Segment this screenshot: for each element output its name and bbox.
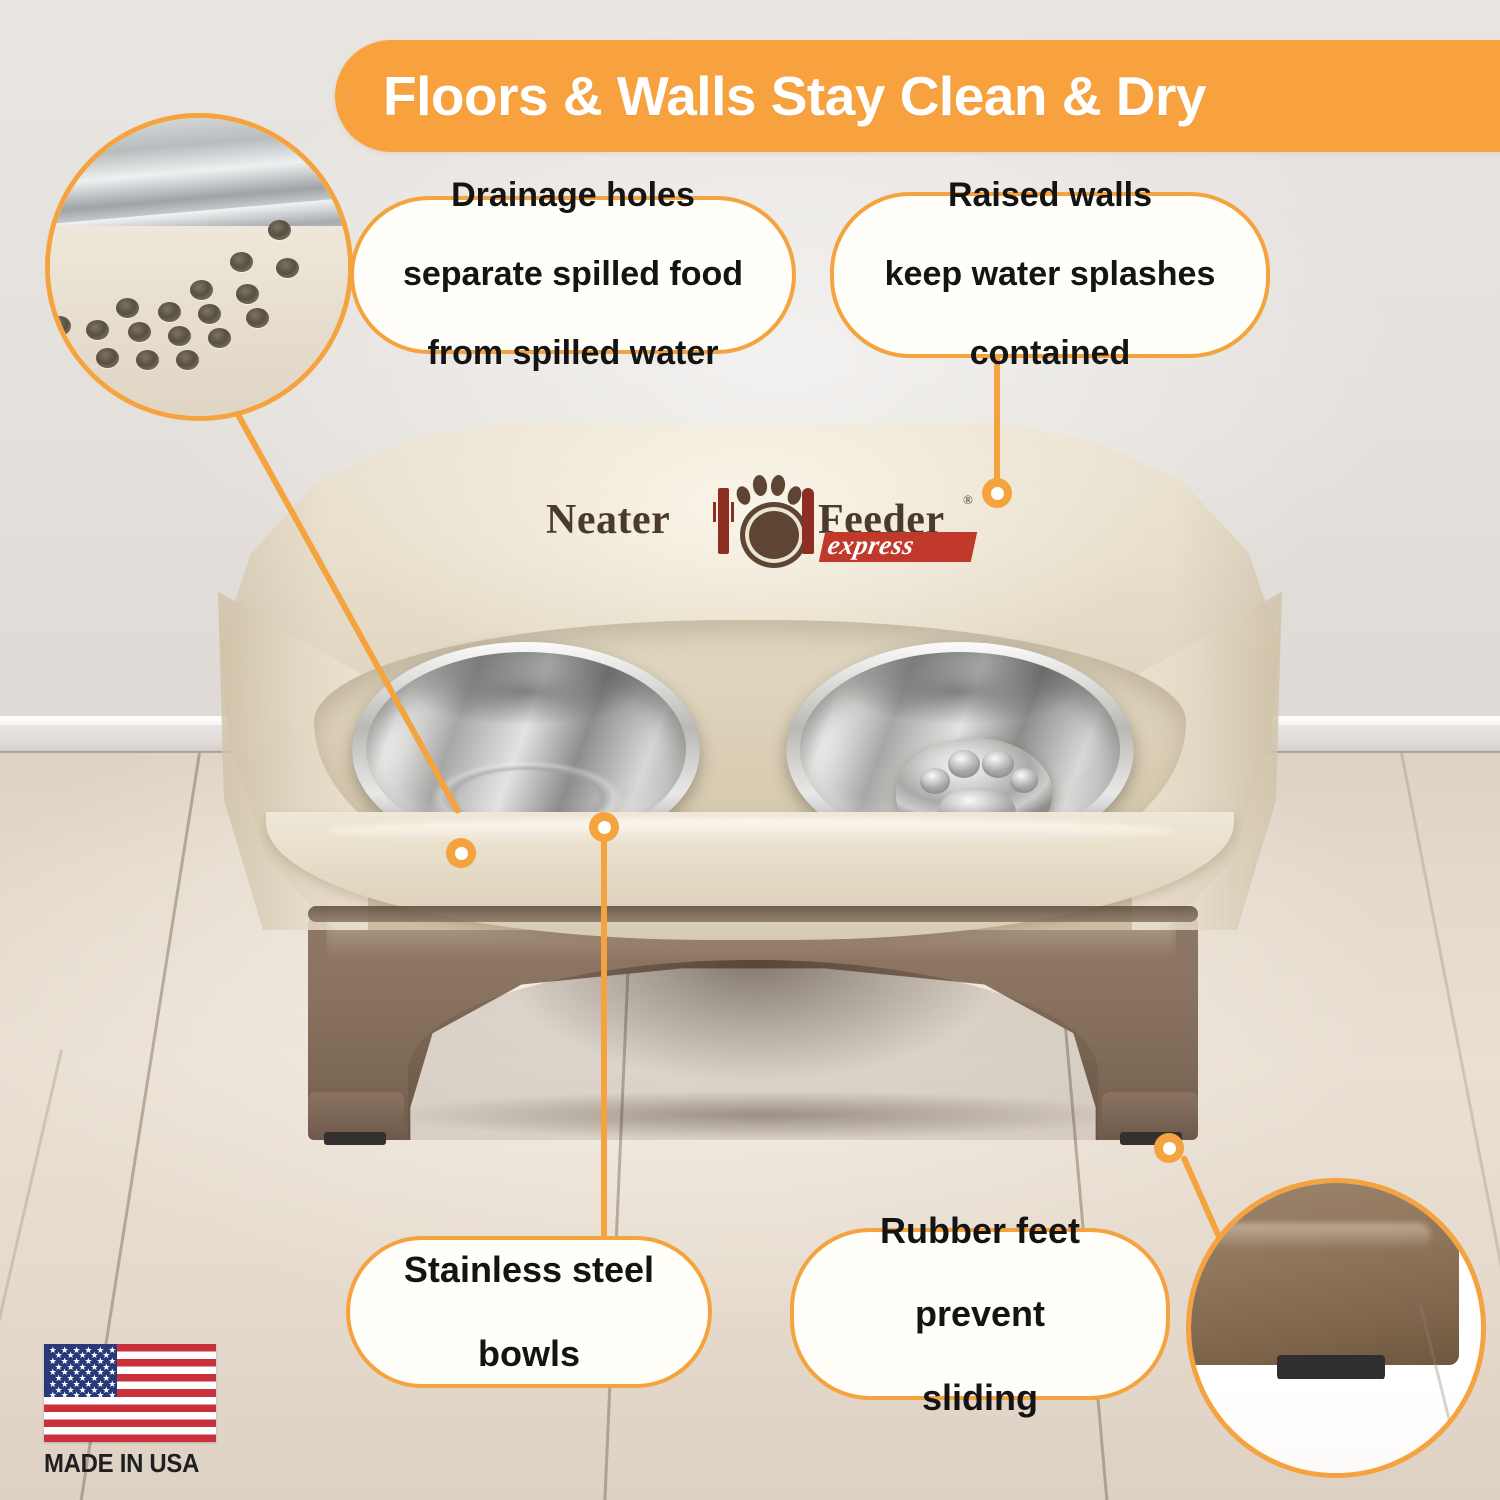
paw-toe <box>752 474 768 497</box>
drainage-hole <box>176 350 199 370</box>
flag-star: ★ <box>73 1391 81 1400</box>
paw-toe-pad <box>982 750 1014 778</box>
callout-stainless-steel-bowls[interactable]: Stainless steel bowls <box>346 1236 712 1388</box>
fork-icon <box>718 488 729 554</box>
paw-toe <box>770 474 786 497</box>
drainage-hole <box>136 350 159 370</box>
paw-toe <box>785 484 803 506</box>
rubber-foot-closeup <box>1277 1355 1385 1381</box>
flag-star: ★ <box>49 1391 57 1400</box>
callout-line: sliding <box>880 1377 1080 1419</box>
callout-line: Raised walls <box>885 176 1216 215</box>
callout-rubber-feet[interactable]: Rubber feet prevent sliding <box>790 1228 1170 1400</box>
paw-toe <box>734 484 752 506</box>
callout-line: from spilled water <box>403 334 743 373</box>
page-title: Floors & Walls Stay Clean & Dry <box>335 64 1206 128</box>
drainage-hole <box>158 302 181 322</box>
callout-drainage-text: Drainage holes separate spilled food fro… <box>403 176 743 373</box>
infographic-canvas: Neater Feeder ® express Floors & Walls S… <box>0 0 1500 1500</box>
flag-star: ★ <box>108 1391 116 1400</box>
drainage-hole <box>52 344 75 364</box>
logo-express-text: express <box>825 530 980 561</box>
callout-line: keep water splashes <box>885 255 1216 294</box>
drainage-hole <box>128 322 151 342</box>
flag-canton: ★★★★★★★★★★★★★★★★★★★★★★★★★★★★★★★★★★★★★★★★… <box>44 1344 117 1397</box>
pointer-dot-raised-walls <box>982 478 1012 508</box>
callout-line: Rubber feet <box>880 1210 1080 1252</box>
made-in-usa-label: MADE IN USA <box>44 1448 202 1479</box>
paw-toe-pad <box>920 768 950 794</box>
callout-line: bowls <box>404 1333 654 1375</box>
drainage-hole <box>198 304 221 324</box>
callout-raised-walls[interactable]: Raised walls keep water splashes contain… <box>830 192 1270 358</box>
pointer-dot-stainless-bowls <box>589 812 619 842</box>
callout-line: prevent <box>880 1293 1080 1335</box>
rubber-foot-left <box>324 1132 386 1145</box>
usa-flag-icon: ★★★★★★★★★★★★★★★★★★★★★★★★★★★★★★★★★★★★★★★★… <box>44 1344 216 1442</box>
callout-line: Stainless steel <box>404 1249 654 1291</box>
callout-line: separate spilled food <box>403 255 743 294</box>
flag-star: ★ <box>96 1391 104 1400</box>
connector-raised-walls <box>994 356 1000 496</box>
paw-print-icon <box>736 474 802 560</box>
paw-toe-pad <box>1010 768 1038 793</box>
base-top-edge <box>308 906 1198 922</box>
knife-icon <box>802 488 814 554</box>
callout-line: contained <box>885 334 1216 373</box>
callout-bowls-text: Stainless steel bowls <box>404 1249 654 1374</box>
callout-rubber-text: Rubber feet prevent sliding <box>880 1210 1080 1419</box>
callout-line: Drainage holes <box>403 176 743 215</box>
drainage-plate-plastic <box>45 226 353 421</box>
registered-trademark-mark: ® <box>963 492 973 508</box>
drainage-hole <box>48 316 71 336</box>
pointer-dot-drainage <box>446 838 476 868</box>
drainage-hole <box>276 258 299 278</box>
base-leg-highlight <box>1186 1223 1431 1249</box>
made-in-usa-badge: ★★★★★★★★★★★★★★★★★★★★★★★★★★★★★★★★★★★★★★★★… <box>44 1344 216 1484</box>
drainage-hole <box>268 220 291 240</box>
rubber-foot-closeup-inset <box>1186 1178 1486 1478</box>
drainage-hole <box>236 284 259 304</box>
drainage-hole <box>168 326 191 346</box>
paw-toe-pad <box>948 750 980 778</box>
neater-feeder-logo: Neater Feeder ® express <box>546 474 978 568</box>
drainage-hole <box>96 348 119 368</box>
flag-star: ★ <box>84 1391 92 1400</box>
header-banner: Floors & Walls Stay Clean & Dry <box>335 40 1500 152</box>
drainage-holes-closeup-inset <box>45 113 353 421</box>
base-leg-closeup <box>1186 1178 1459 1365</box>
callout-raised-walls-text: Raised walls keep water splashes contain… <box>885 176 1216 373</box>
pointer-dot-rubber-feet <box>1154 1133 1184 1163</box>
callout-drainage-holes[interactable]: Drainage holes separate spilled food fro… <box>350 196 796 354</box>
drainage-hole <box>116 298 139 318</box>
drainage-hole <box>86 320 109 340</box>
drainage-hole <box>208 328 231 348</box>
drainage-hole <box>246 308 269 328</box>
connector-stainless-bowls <box>601 828 607 1244</box>
flag-star: ★ <box>61 1391 69 1400</box>
drainage-hole <box>190 280 213 300</box>
paw-bowl-circle <box>740 502 808 568</box>
logo-neater-text: Neater <box>546 496 670 544</box>
drainage-hole <box>230 252 253 272</box>
